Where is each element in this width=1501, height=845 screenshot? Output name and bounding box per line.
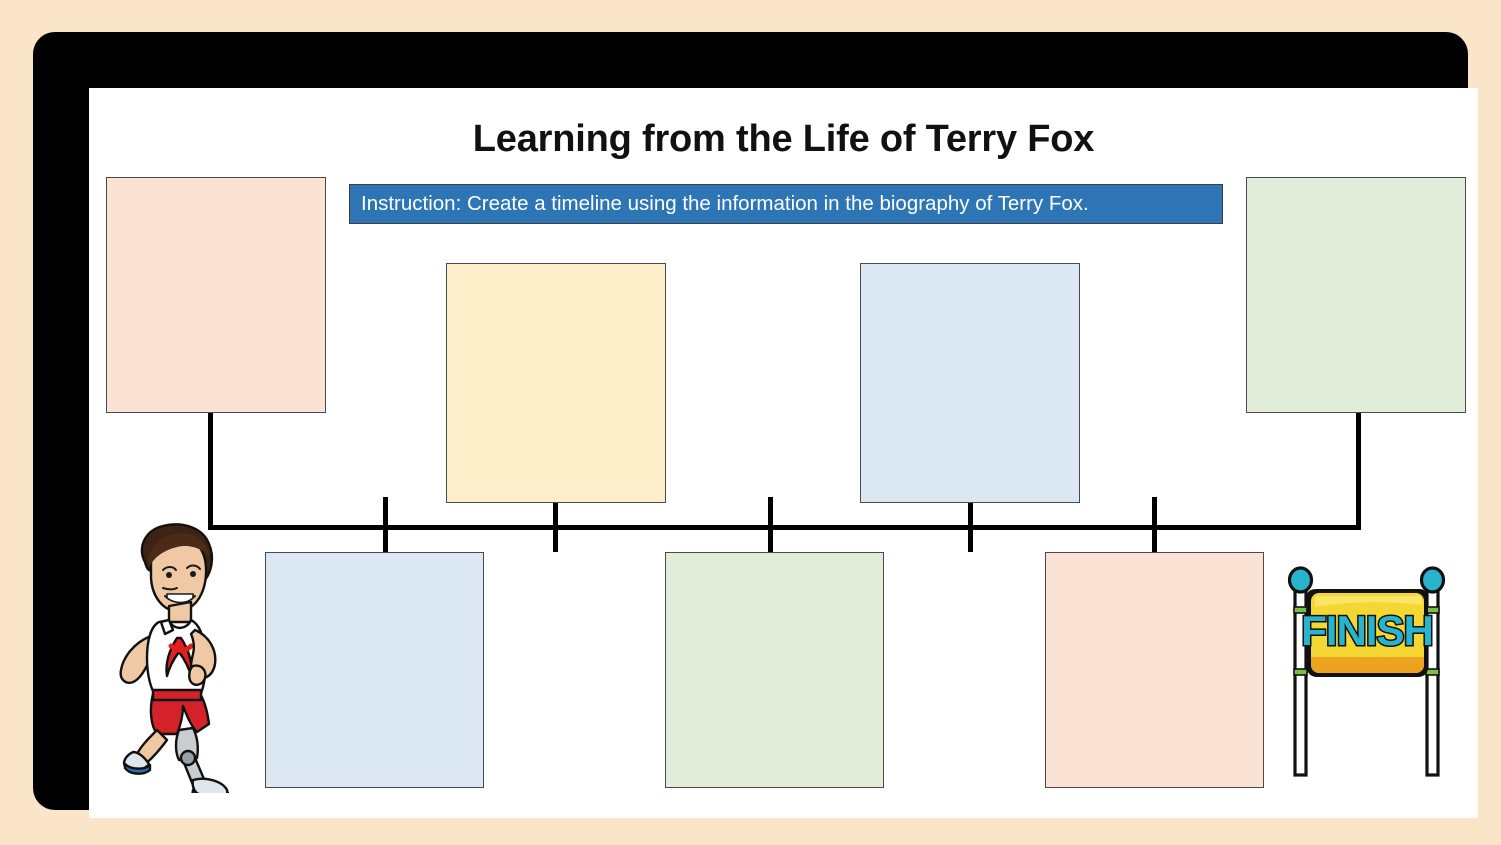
timeline-tick-2 xyxy=(553,497,558,552)
runner-svg xyxy=(103,518,233,793)
post-knob-right-icon xyxy=(1422,568,1444,592)
finish-sign-svg: FINISH xyxy=(1277,563,1457,778)
note-box-2[interactable] xyxy=(446,263,666,503)
slide-stage: Learning from the Life of Terry Fox Inst… xyxy=(0,0,1501,845)
timeline-main-line xyxy=(208,525,1361,530)
timeline-tick-1 xyxy=(383,497,388,552)
slide-frame: Learning from the Life of Terry Fox Inst… xyxy=(33,32,1468,810)
note-box-1[interactable] xyxy=(106,177,326,413)
timeline-connector-box-4 xyxy=(1356,413,1361,530)
note-box-3[interactable] xyxy=(860,263,1080,503)
post-knob-left-icon xyxy=(1290,568,1312,592)
terry-fox-runner-icon xyxy=(103,518,233,793)
timeline-tick-5 xyxy=(1152,497,1157,552)
finish-line-sign-icon: FINISH xyxy=(1277,563,1457,778)
note-box-7[interactable] xyxy=(1045,552,1264,788)
note-box-5[interactable] xyxy=(265,552,484,788)
page-title: Learning from the Life of Terry Fox xyxy=(89,118,1478,161)
instruction-text: Instruction: Create a timeline using the… xyxy=(361,192,1089,216)
note-box-4[interactable] xyxy=(1246,177,1466,413)
slide-canvas: Learning from the Life of Terry Fox Inst… xyxy=(89,88,1478,818)
timeline-tick-4 xyxy=(968,497,973,552)
instruction-banner: Instruction: Create a timeline using the… xyxy=(349,184,1223,224)
note-box-6[interactable] xyxy=(665,552,884,788)
timeline-connector-box-1 xyxy=(208,413,213,530)
timeline-tick-3 xyxy=(768,497,773,552)
finish-label: FINISH xyxy=(1301,607,1433,654)
